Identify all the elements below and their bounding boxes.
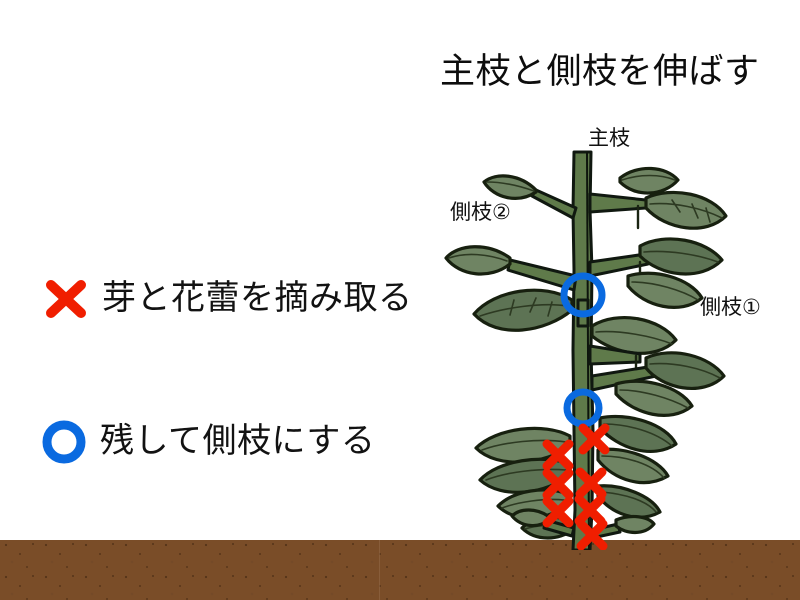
upper-right-branch <box>590 168 726 228</box>
side-branch-2-shape <box>446 247 588 331</box>
circle-mark-icon <box>38 415 90 467</box>
slide-canvas: 主枝と側枝を伸ばす .lf { fill:#6f8463; stroke:#17… <box>0 0 800 600</box>
soil-seam-divider <box>379 540 380 600</box>
callout-side-branch-1: 側枝① <box>700 297 761 318</box>
legend-item-remove: 芽と花蕾を摘み取る <box>40 272 413 324</box>
cross-mark-icon <box>40 272 92 324</box>
callout-main-stem: 主枝 <box>588 128 630 149</box>
page-title: 主枝と側枝を伸ばす <box>440 52 790 91</box>
legend-label-remove: 芽と花蕾を摘み取る <box>102 281 413 315</box>
legend-item-keep: 残して側枝にする <box>38 415 375 467</box>
callout-side-branch-2: 側枝② <box>450 202 511 223</box>
lower-right-leaves <box>592 353 724 517</box>
legend-label-keep: 残して側枝にする <box>100 424 375 458</box>
